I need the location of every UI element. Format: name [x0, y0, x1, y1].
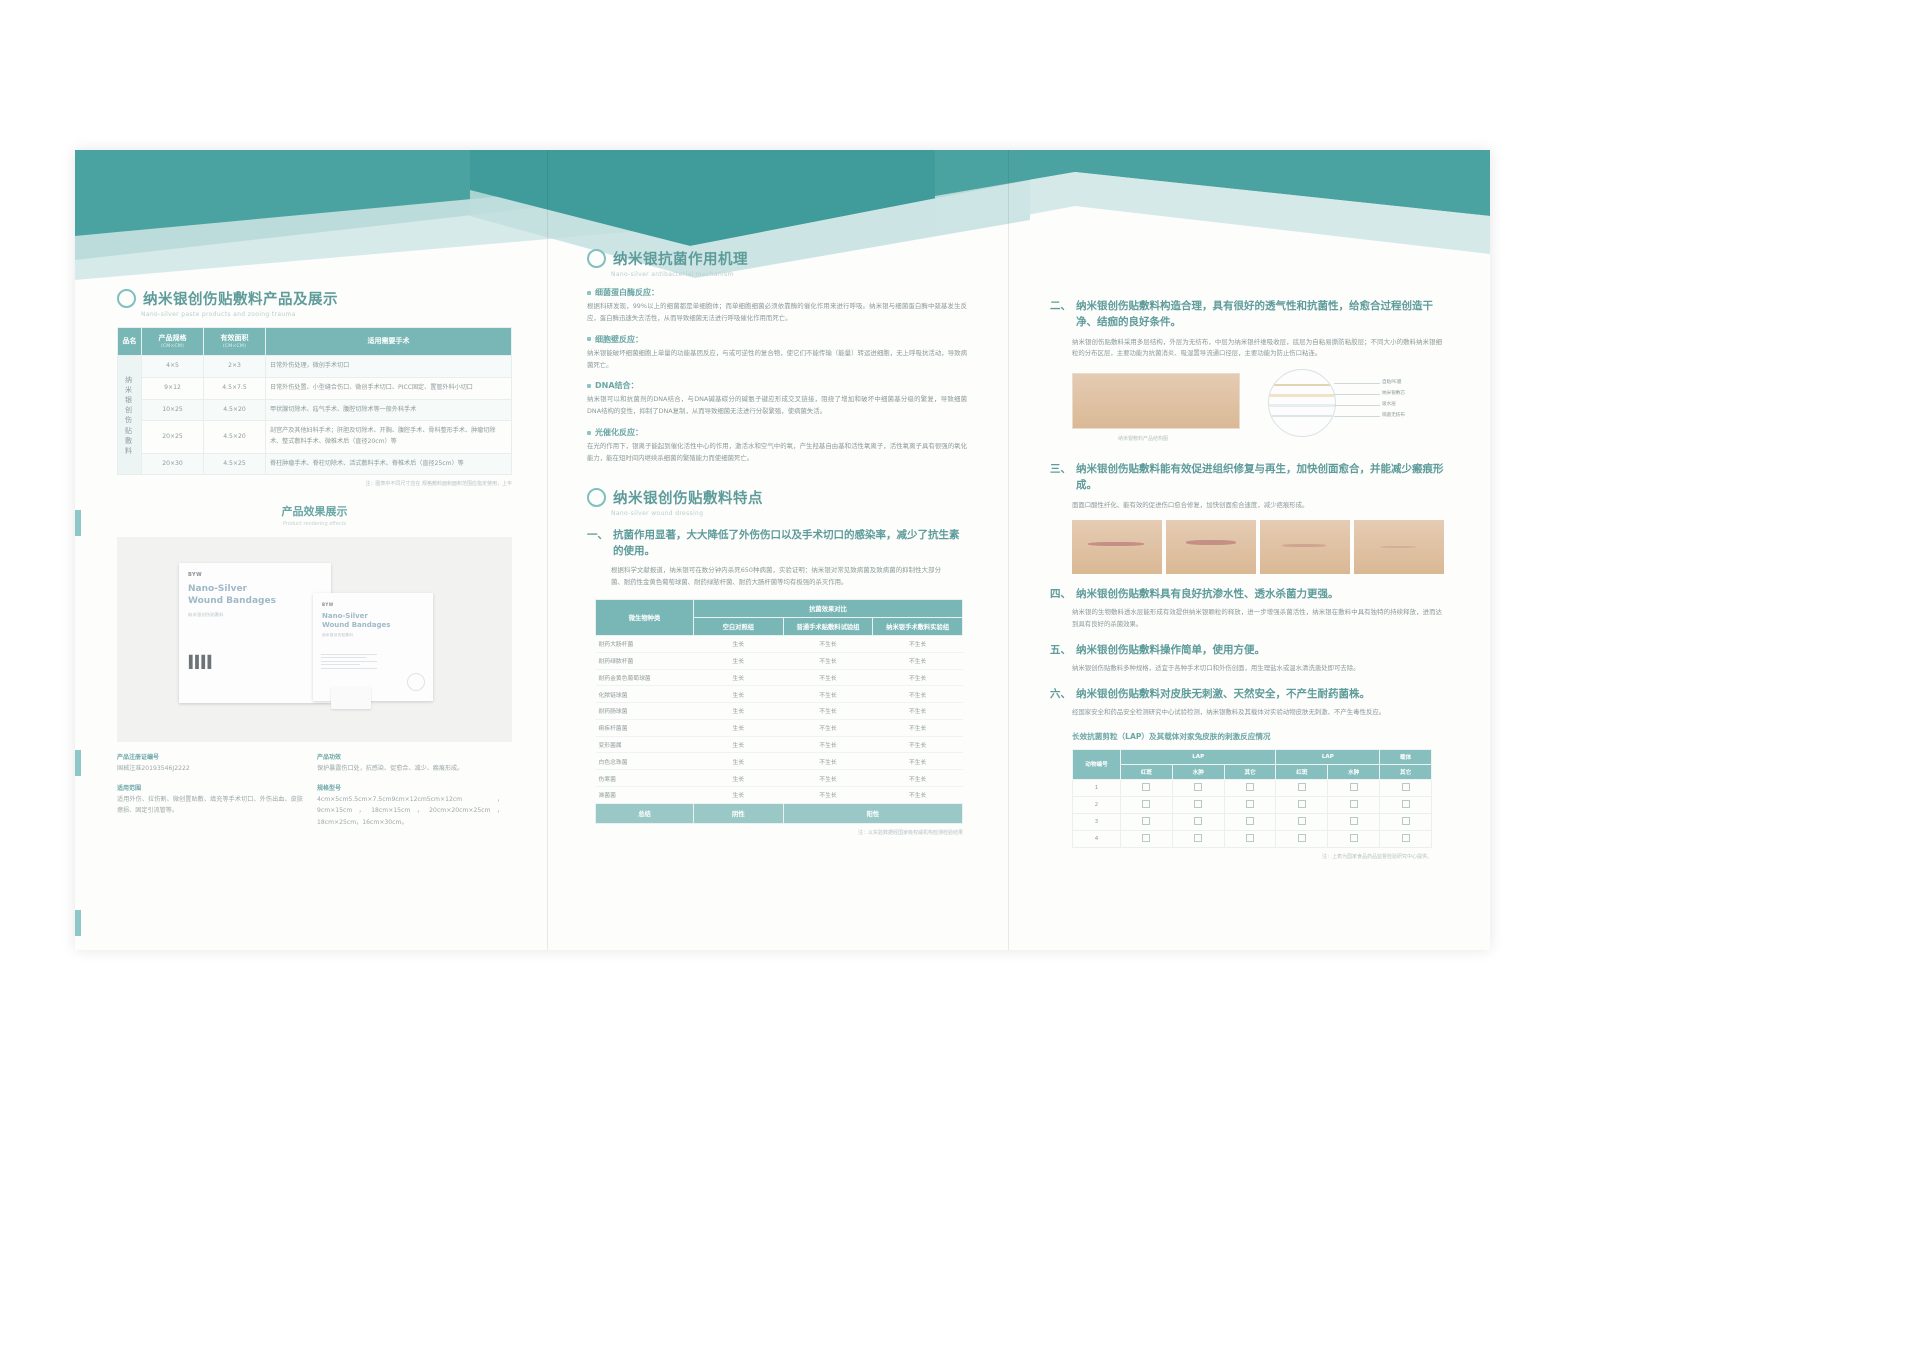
spec-table-footnote: 注：图表中不同尺寸应在 规格敷料面积面积范围应指定使用，上平	[117, 480, 512, 487]
lap-cell	[1276, 830, 1328, 847]
right-item-2: 二、 纳米银创伤贴敷料构造合理，具有很好的透气性和抗菌性，给愈合过程创造干净、结…	[1050, 298, 1450, 331]
right-panel: 二、 纳米银创伤贴敷料构造合理，具有很好的透气性和抗菌性，给愈合过程创造干净、结…	[1050, 298, 1450, 860]
mechanism-item-heading: 细胞壁反应：	[587, 334, 967, 345]
edge-tab-mid	[75, 750, 81, 776]
right-item-heading: 纳米银创伤贴敷料具有良好抗渗水性、透水杀菌力更强。	[1076, 586, 1339, 602]
lap-cell	[1380, 779, 1432, 796]
mechanism-item-heading: DNA结合：	[587, 380, 967, 391]
clinical-photo	[1354, 520, 1444, 574]
clinical-photo-row	[1072, 520, 1450, 574]
features-subtitle: Nano-silver wound dressing	[611, 510, 967, 517]
checkbox-icon[interactable]	[1298, 834, 1306, 842]
package-sachet	[331, 687, 371, 709]
right-item-text: 纳米银创伤贴敷料采用多层结构，外层为无纺布，中层为纳米银纤维吸收层，底层为自粘易…	[1072, 337, 1442, 361]
checkbox-icon[interactable]	[1194, 834, 1202, 842]
bacteria-name: 耐药肠球菌	[596, 703, 694, 720]
mechanism-title: 纳米银抗菌作用机理	[613, 248, 748, 269]
feature-number: 一、	[587, 527, 608, 560]
spec-th-0: 品名	[118, 328, 142, 356]
spec-cell-area: 4.5×25	[204, 453, 266, 475]
footer-text: 4cm×5cm5.5cm×7.5cm9cm×12cm5cm×12cm，9cm×1…	[317, 794, 503, 829]
checkbox-icon[interactable]	[1246, 817, 1254, 825]
package-logo: BYW	[322, 602, 334, 607]
spec-table: 品名 产品规格 (CM×CM) 有效面积 (CM×CM) 适	[117, 327, 512, 475]
bacteria-name: 痢疾杆菌菌	[596, 719, 694, 736]
bacteria-v1: 不生长	[783, 736, 873, 753]
table-row: 淋菌菌 生长 不生长 不生长	[596, 787, 963, 804]
lap-th-sub-2: 水肿	[1172, 764, 1224, 779]
bacteria-table-note: 注：以实验数据经国家级权威机构检测检验结果	[587, 829, 963, 836]
package-seal-icon	[407, 673, 425, 691]
bacteria-v0: 生长	[694, 703, 784, 720]
leader-line-0	[1334, 383, 1380, 384]
table-row: 耐药金黄色葡萄球菌 生长 不生长 不生长	[596, 669, 963, 686]
structure-label-2: 吸水层	[1382, 401, 1396, 407]
table-row: 9×12 4.5×7.5 日常外伤处置、小型缝合伤口、微创手术切口、PICC固定…	[118, 378, 512, 400]
spec-cell-spec: 9×12	[142, 378, 204, 400]
middle-panel: 纳米银抗菌作用机理 Nano-silver antibacterial mech…	[587, 248, 967, 836]
product-photo: BYW Nano-SilverWound Bandages 纳米银创伤贴敷料 ▌…	[117, 537, 512, 742]
lap-th-sub-3: 其它	[1224, 764, 1276, 779]
bacteria-v2: 不生长	[873, 736, 963, 753]
mechanism-item-heading: 细菌蛋白酶反应：	[587, 287, 967, 298]
bacteria-v0: 生长	[694, 635, 784, 652]
lap-cell	[1224, 779, 1276, 796]
mechanism-item-text: 纳米银能破坏细菌细胞上单量的功能基团反应，与或可逆性的复合物，使它们不能传输（能…	[587, 348, 967, 372]
checkbox-icon[interactable]	[1350, 834, 1358, 842]
bacteria-v2: 不生长	[873, 787, 963, 804]
bacteria-v2: 不生长	[873, 635, 963, 652]
right-item-text: 面面口酸性纤化、能有效的促进伤口愈合修复，加快创面愈合速度，减少疤痕形成。	[1072, 500, 1442, 512]
right-item-heading: 纳米银创伤贴敷料能有效促进组织修复与再生，加快创面愈合，并能减少瘢痕形成。	[1076, 461, 1450, 494]
dressing-swatch	[1072, 373, 1240, 429]
checkbox-icon[interactable]	[1246, 800, 1254, 808]
structure-label-3: 隔菌无纺布	[1382, 412, 1405, 418]
spec-th-1: 产品规格 (CM×CM)	[142, 328, 204, 356]
spec-cell-area: 4.5×20	[204, 399, 266, 421]
package-subtitle: 纳米银创伤贴敷料	[188, 612, 224, 618]
lap-cell	[1121, 779, 1173, 796]
table-row: 伤寒菌 生长 不生长 不生长	[596, 770, 963, 787]
feature-heading: 抗菌作用显著，大大降低了外伤伤口以及手术切口的感染率，减少了抗生素的使用。	[613, 527, 967, 560]
spec-cell-area: 4.5×20	[204, 421, 266, 453]
lap-cell	[1328, 796, 1380, 813]
checkbox-icon[interactable]	[1142, 817, 1150, 825]
leader-line-2	[1334, 405, 1380, 406]
checkbox-icon[interactable]	[1246, 834, 1254, 842]
spec-table-header-row: 品名 产品规格 (CM×CM) 有效面积 (CM×CM) 适	[118, 328, 512, 356]
table-row: 4	[1073, 830, 1432, 847]
footer-label: 产品功效	[317, 752, 503, 761]
lap-table-title: 长效抗菌剪粒（LAP）及其载体对家兔皮肤的刺激反应情况	[1072, 731, 1450, 742]
checkbox-icon[interactable]	[1402, 817, 1410, 825]
bacteria-name: 白色念珠菌	[596, 753, 694, 770]
product-display-subtitle: Product rendering effects	[117, 521, 512, 527]
fold-line-1	[547, 150, 548, 950]
package-box-small: BYW Nano-SilverWound Bandages 纳米银创伤贴敷料	[313, 593, 433, 701]
footer-text: 保护暴露伤口处，抗感染、促愈合、减少、瘢痕形成。	[317, 763, 503, 775]
table-row: 3	[1073, 813, 1432, 830]
bacteria-v0: 生长	[694, 736, 784, 753]
bacteria-v0: 生长	[694, 753, 784, 770]
table-row: 化脓链球菌 生长 不生长 不生长	[596, 686, 963, 703]
lap-cell	[1380, 796, 1432, 813]
bacteria-name: 伤寒菌	[596, 770, 694, 787]
lap-th-sub-6: 其它	[1380, 764, 1432, 779]
clinical-photo	[1166, 520, 1256, 574]
spec-cell-use: 日常外伤处置、小型缝合伤口、微创手术切口、PICC固定、置管外科小切口	[266, 378, 512, 400]
spec-th-2: 有效面积 (CM×CM)	[204, 328, 266, 356]
bacteria-v2: 不生长	[873, 770, 963, 787]
wound-mark	[1380, 546, 1416, 548]
footer-col-left: 产品注册证编号 国械注准20193546J2222 适用范围 适用外伤、拉伤割、…	[117, 752, 303, 828]
bacteria-name: 耐药大肠杆菌	[596, 635, 694, 652]
mechanism-item: 细菌蛋白酶反应： 根据科研发现，99%以上的细菌都是单细胞体；而单细胞细菌必须依…	[587, 287, 967, 325]
lap-th-sub-4: 红斑	[1276, 764, 1328, 779]
left-section-title: 纳米银创伤贴敷料产品及展示	[143, 288, 338, 309]
spec-side-label: 纳米银创伤贴敷料	[118, 356, 142, 475]
wound-mark	[1282, 544, 1326, 547]
checkbox-icon[interactable]	[1350, 800, 1358, 808]
lap-cell	[1276, 813, 1328, 830]
lap-cell	[1380, 813, 1432, 830]
checkbox-icon[interactable]	[1142, 800, 1150, 808]
edge-tab-bottom	[75, 910, 81, 936]
bacteria-v2: 不生长	[873, 669, 963, 686]
bacteria-table-footer-row: 总结 阴性 阳性	[596, 803, 963, 823]
right-item-text: 纳米银创伤贴敷料多种规格，适宜于各种手术切口和外伤创面，用生理盐水或温水清洗患处…	[1072, 663, 1442, 675]
bacteria-v0: 生长	[694, 652, 784, 669]
lap-cell	[1121, 813, 1173, 830]
bacteria-name: 淋菌菌	[596, 787, 694, 804]
lap-th-sub-1: 红斑	[1121, 764, 1173, 779]
mechanism-item: 细胞壁反应： 纳米银能破坏细菌细胞上单量的功能基团反应，与或可逆性的复合物，使它…	[587, 334, 967, 372]
spec-cell-use: 脊柱肿瘤手术、脊柱切除术、活式敷料手术、脊椎术后（直径25cm）等	[266, 453, 512, 475]
checkbox-icon[interactable]	[1402, 800, 1410, 808]
bacteria-v0: 生长	[694, 686, 784, 703]
right-item-heading: 纳米银创伤贴敷料操作简单，使用方便。	[1076, 642, 1265, 658]
checkbox-icon[interactable]	[1194, 817, 1202, 825]
clinical-photo	[1260, 520, 1350, 574]
spec-cell-spec: 10×25	[142, 399, 204, 421]
spec-cell-spec: 20×30	[142, 453, 204, 475]
lap-th-group-lap2: LAP	[1276, 749, 1380, 764]
right-item-4: 四、 纳米银创伤贴敷料具有良好抗渗水性、透水杀菌力更强。	[1050, 586, 1450, 602]
bacteria-v1: 不生长	[783, 753, 873, 770]
wound-mark	[1186, 540, 1236, 545]
bacteria-name: 化脓链球菌	[596, 686, 694, 703]
mechanism-section-header: 纳米银抗菌作用机理	[587, 248, 967, 269]
footer-label: 规格型号	[317, 783, 503, 792]
table-row: 10×25 4.5×20 甲状腺切除术、疝气手术、腹腔切除术等一般外科手术	[118, 399, 512, 421]
circle-bullet-icon	[587, 488, 606, 507]
table-row: 变形菌属 生长 不生长 不生长	[596, 736, 963, 753]
spec-th-3: 适用需要手术	[266, 328, 512, 356]
lap-cell	[1172, 796, 1224, 813]
lap-th-group-lap: LAP	[1121, 749, 1276, 764]
lap-cell	[1276, 796, 1328, 813]
screenshot-root: 纳米银创伤贴敷料产品及展示 Nano-silver paste products…	[0, 0, 1920, 1357]
package-title: Nano-SilverWound Bandages	[188, 584, 276, 607]
lap-th-group-carrier: 载体	[1380, 749, 1432, 764]
package-subtitle: 纳米银创伤贴敷料	[322, 633, 353, 638]
cross-section-circle	[1268, 369, 1336, 437]
bacteria-table: 微生物种类 抗菌效果对比 空白对照组 普通手术贴敷料试验组 纳米银手术敷料实验组…	[595, 599, 963, 824]
bacteria-v1: 不生长	[783, 652, 873, 669]
lap-row-id: 4	[1073, 830, 1121, 847]
lap-cell	[1121, 830, 1173, 847]
bacteria-foot-2: 阳性	[783, 803, 962, 823]
lap-cell	[1172, 779, 1224, 796]
right-item-5: 五、 纳米银创伤贴敷料操作简单，使用方便。	[1050, 642, 1450, 658]
bacteria-v1: 不生长	[783, 686, 873, 703]
mechanism-item-text: 根据科研发现，99%以上的细菌都是单细胞体；而单细胞细菌必须依靠酶的催化作用来进…	[587, 301, 967, 325]
bacteria-foot-1: 阴性	[694, 803, 784, 823]
checkbox-icon[interactable]	[1194, 783, 1202, 791]
bacteria-v0: 生长	[694, 787, 784, 804]
table-row: 痢疾杆菌菌 生长 不生长 不生长	[596, 719, 963, 736]
mechanism-item: DNA结合： 纳米银可以和抗菌剂的DNA结合，与DNA碱基碳分的碱氨子键应形成交…	[587, 380, 967, 418]
spec-cell-spec: 20×25	[142, 421, 204, 453]
dressing-swatch-caption: 纳米银敷料产品结构图	[1118, 435, 1168, 442]
spec-cell-use: 甲状腺切除术、疝气手术、腹腔切除术等一般外科手术	[266, 399, 512, 421]
right-item-text: 经国家安全和药品安全检测研究中心试验检测，纳米银敷料及其载体对实验动物皮肤无刺激…	[1072, 707, 1442, 719]
mechanism-item-text: 在光的作用下，银离子能起到催化活性中心的作用，激活水和空气中的氧，产生羟基自由基…	[587, 441, 967, 465]
bacteria-th-sub-1: 普通手术贴敷料试验组	[783, 617, 873, 635]
table-row: 20×30 4.5×25 脊柱肿瘤手术、脊柱切除术、活式敷料手术、脊椎术后（直径…	[118, 453, 512, 475]
lap-cell	[1224, 796, 1276, 813]
fold-line-2	[1008, 150, 1009, 950]
mechanism-item-text: 纳米银可以和抗菌剂的DNA结合，与DNA碱基碳分的碱氨子键应形成交叉链接，阻挠了…	[587, 394, 967, 418]
bacteria-v2: 不生长	[873, 719, 963, 736]
right-item-heading: 纳米银创伤贴敷料构造合理，具有很好的透气性和抗菌性，给愈合过程创造干净、结痂的良…	[1076, 298, 1450, 331]
bacteria-v2: 不生长	[873, 703, 963, 720]
lap-row-id: 2	[1073, 796, 1121, 813]
mechanism-subtitle: Nano-silver antibacterial mechanism	[611, 271, 967, 278]
structure-label-0: 自粘PE膜	[1382, 379, 1401, 385]
bacteria-v0: 生长	[694, 669, 784, 686]
wound-mark	[1088, 542, 1144, 546]
bacteria-v0: 生长	[694, 770, 784, 787]
lap-row-id: 3	[1073, 813, 1121, 830]
left-section-subtitle: Nano-silver paste products and zooing tr…	[141, 311, 512, 318]
product-display-title: 产品效果展示	[117, 503, 512, 519]
right-item-number: 六、	[1050, 686, 1071, 702]
lap-cell	[1224, 813, 1276, 830]
lap-th-sub-5: 水肿	[1328, 764, 1380, 779]
right-item-text: 纳米银的生物敷料透水层能形成有效提供纳米银颗粒的释放，进一步增强杀菌活性，纳米银…	[1072, 607, 1442, 631]
lap-cell	[1224, 830, 1276, 847]
lap-table-note: 注：上表为国家食品药品监督检验研究中心提供。	[1050, 853, 1432, 860]
lap-cell	[1328, 779, 1380, 796]
checkbox-icon[interactable]	[1402, 783, 1410, 791]
footer-info: 产品注册证编号 国械注准20193546J2222 适用范围 适用外伤、拉伤割、…	[117, 752, 512, 828]
lap-cell	[1172, 830, 1224, 847]
spec-cell-spec: 4×5	[142, 356, 204, 378]
spec-table-body: 纳米银创伤贴敷料 4×5 2×3 日常外伤处理，微创手术切口 9×12 4.5×…	[118, 356, 512, 475]
lap-row-id: 1	[1073, 779, 1121, 796]
mechanism-item-heading: 光催化反应：	[587, 427, 967, 438]
circle-bullet-icon	[587, 249, 606, 268]
right-item-number: 五、	[1050, 642, 1071, 658]
bacteria-table-group-row: 微生物种类 抗菌效果对比	[596, 599, 963, 617]
footer-text: 国械注准20193546J2222	[117, 763, 303, 775]
table-row: 1	[1073, 779, 1432, 796]
leader-line-1	[1334, 394, 1380, 395]
lap-cell	[1276, 779, 1328, 796]
checkbox-icon[interactable]	[1142, 834, 1150, 842]
bacteria-th-sub-0: 空白对照组	[694, 617, 784, 635]
checkbox-icon[interactable]	[1142, 783, 1150, 791]
product-display-header: 产品效果展示 Product rendering effects	[117, 503, 512, 527]
footer-label: 产品注册证编号	[117, 752, 303, 761]
lap-group-row: 动物编号 LAP LAP 载体	[1073, 749, 1432, 764]
lap-cell	[1328, 813, 1380, 830]
bacteria-v1: 不生长	[783, 787, 873, 804]
structure-label-1: 纳米银敷芯	[1382, 390, 1405, 396]
table-row: 耐药肠球菌 生长 不生长 不生长	[596, 703, 963, 720]
table-row: 耐药绿脓杆菌 生长 不生长 不生长	[596, 652, 963, 669]
spec-cell-area: 2×3	[204, 356, 266, 378]
table-row: 20×25 4.5×20 剖宫产及其他妇科手术；肝胆及切除术、开胸、腹腔手术、骨…	[118, 421, 512, 453]
features-title: 纳米银创伤贴敷料特点	[613, 487, 763, 508]
spec-cell-area: 4.5×7.5	[204, 378, 266, 400]
bacteria-foot-0: 总结	[596, 803, 694, 823]
package-logo: BYW	[188, 572, 202, 578]
spec-cell-use: 剖宫产及其他妇科手术；肝胆及切除术、开胸、腹腔手术、骨科整形手术、肿瘤切除术、整…	[266, 421, 512, 453]
checkbox-icon[interactable]	[1298, 800, 1306, 808]
bacteria-v1: 不生长	[783, 770, 873, 787]
features-section-header: 纳米银创伤贴敷料特点	[587, 487, 967, 508]
right-item-number: 三、	[1050, 461, 1071, 494]
bacteria-name: 变形菌属	[596, 736, 694, 753]
left-panel: 纳米银创伤贴敷料产品及展示 Nano-silver paste products…	[117, 288, 512, 829]
right-item-number: 四、	[1050, 586, 1071, 602]
right-item-3: 三、 纳米银创伤贴敷料能有效促进组织修复与再生，加快创面愈合，并能减少瘢痕形成。	[1050, 461, 1450, 494]
package-title: Nano-SilverWound Bandages	[322, 612, 390, 630]
footer-col-right: 产品功效 保护暴露伤口处，抗感染、促愈合、减少、瘢痕形成。 规格型号 4cm×5…	[317, 752, 503, 828]
checkbox-icon[interactable]	[1246, 783, 1254, 791]
bacteria-v2: 不生长	[873, 686, 963, 703]
footer-block: 适用范围 适用外伤、拉伤割、微创置贴敷、填充等手术切口、外伤出血、皮肤擦损、固定…	[117, 783, 303, 817]
lap-cell	[1380, 830, 1432, 847]
bacteria-table-body: 耐药大肠杆菌 生长 不生长 不生长 耐药绿脓杆菌 生长 不生长 不生长	[596, 635, 963, 823]
feature-item-1: 一、 抗菌作用显著，大大降低了外伤伤口以及手术切口的感染率，减少了抗生素的使用。	[587, 527, 967, 560]
scanned-brochure-sheet: 纳米银创伤贴敷料产品及展示 Nano-silver paste products…	[75, 150, 1490, 950]
clinical-photo	[1072, 520, 1162, 574]
footer-block: 规格型号 4cm×5cm5.5cm×7.5cm9cm×12cm5cm×12cm，…	[317, 783, 503, 829]
table-row: 白色念珠菌 生长 不生长 不生长	[596, 753, 963, 770]
structure-diagram: 纳米银敷料产品结构图 自粘PE膜 纳米银敷芯 吸水层 隔菌无	[1072, 369, 1450, 449]
bacteria-v1: 不生长	[783, 635, 873, 652]
bacteria-v1: 不生长	[783, 669, 873, 686]
lap-cell	[1121, 796, 1173, 813]
left-section-header: 纳米银创伤贴敷料产品及展示	[117, 288, 512, 309]
edge-tab-top	[75, 510, 81, 536]
bacteria-th-sub-2: 纳米银手术敷料实验组	[873, 617, 963, 635]
right-item-number: 二、	[1050, 298, 1071, 331]
package-box-large: BYW Nano-SilverWound Bandages 纳米银创伤贴敷料 ▌…	[179, 563, 331, 703]
lap-sub-row: 红斑 水肿 其它 红斑 水肿 其它	[1073, 764, 1432, 779]
checkbox-icon[interactable]	[1350, 783, 1358, 791]
lap-cell	[1172, 813, 1224, 830]
checkbox-icon[interactable]	[1298, 817, 1306, 825]
checkbox-icon[interactable]	[1402, 834, 1410, 842]
bacteria-name: 耐药绿脓杆菌	[596, 652, 694, 669]
bacteria-th-group: 抗菌效果对比	[694, 599, 963, 617]
bacteria-v1: 不生长	[783, 703, 873, 720]
table-row: 纳米银创伤贴敷料 4×5 2×3 日常外伤处理，微创手术切口	[118, 356, 512, 378]
checkbox-icon[interactable]	[1350, 817, 1358, 825]
right-item-6: 六、 纳米银创伤贴敷料对皮肤无刺激、天然安全，不产生耐药菌株。	[1050, 686, 1450, 702]
table-row: 2	[1073, 796, 1432, 813]
lap-table-body: 1 2	[1073, 779, 1432, 847]
bacteria-v1: 不生长	[783, 719, 873, 736]
circle-bullet-icon	[117, 289, 136, 308]
mechanism-item: 光催化反应： 在光的作用下，银离子能起到催化活性中心的作用，激活水和空气中的氧，…	[587, 427, 967, 465]
barcode-icon: ▌▌▌▌	[189, 655, 214, 669]
bacteria-v2: 不生长	[873, 652, 963, 669]
bacteria-v2: 不生长	[873, 753, 963, 770]
checkbox-icon[interactable]	[1298, 783, 1306, 791]
leader-line-3	[1334, 416, 1380, 417]
footer-block: 产品功效 保护暴露伤口处，抗感染、促愈合、减少、瘢痕形成。	[317, 752, 503, 775]
footer-block: 产品注册证编号 国械注准20193546J2222	[117, 752, 303, 775]
bacteria-v0: 生长	[694, 719, 784, 736]
table-row: 耐药大肠杆菌 生长 不生长 不生长	[596, 635, 963, 652]
feature-text: 根据科学文献报道，纳米银可在数分钟内杀死650种病菌，实验证明：纳米银对常见致病…	[611, 565, 941, 589]
bacteria-th-name: 微生物种类	[596, 599, 694, 635]
lap-cell	[1328, 830, 1380, 847]
footer-text: 适用外伤、拉伤割、微创置贴敷、填充等手术切口、外伤出血、皮肤擦损、固定引流管等。	[117, 794, 303, 817]
lap-table: 动物编号 LAP LAP 载体 红斑 水肿 其它 红斑 水肿 其它	[1072, 749, 1432, 848]
spec-cell-use: 日常外伤处理，微创手术切口	[266, 356, 512, 378]
footer-label: 适用范围	[117, 783, 303, 792]
lap-th-id: 动物编号	[1073, 749, 1121, 779]
package-detail-lines	[321, 651, 377, 671]
checkbox-icon[interactable]	[1194, 800, 1202, 808]
bacteria-name: 耐药金黄色葡萄球菌	[596, 669, 694, 686]
right-item-heading: 纳米银创伤贴敷料对皮肤无刺激、天然安全，不产生耐药菌株。	[1076, 686, 1370, 702]
